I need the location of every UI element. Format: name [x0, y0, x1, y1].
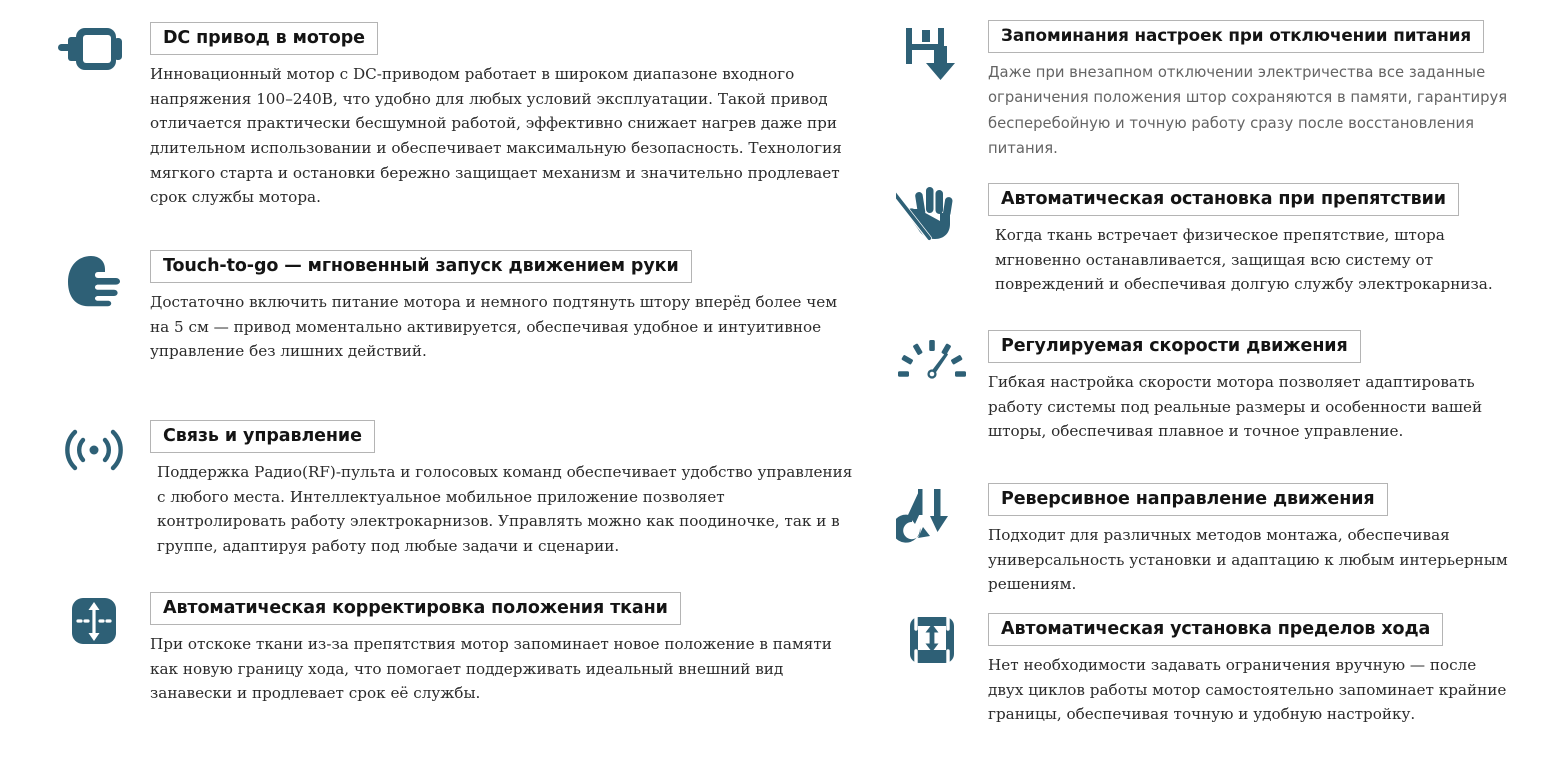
feature-title-box: Автоматическая остановка при препятствии	[988, 183, 1459, 216]
feature-reverse-direction: Реверсивное направление движения Подходи…	[893, 483, 1513, 597]
feature-description: Достаточно включить питание мотора и нем…	[150, 290, 855, 364]
feature-title-box: Автоматическая корректировка положения т…	[150, 592, 681, 625]
feature-body: DC привод в моторе Инновационный мотор с…	[150, 22, 855, 210]
feature-auto-travel-limits: Автоматическая установка пределов хода Н…	[893, 613, 1513, 727]
feature-title-box: Связь и управление	[150, 420, 375, 453]
feature-description: Когда ткань встречает физическое препятс…	[988, 223, 1513, 297]
feature-title: DC привод в моторе	[163, 28, 365, 48]
feature-body: Реверсивное направление движения Подходи…	[988, 483, 1513, 597]
feature-description: Гибкая настройка скорости мотора позволя…	[988, 370, 1513, 444]
feature-body: Автоматическая установка пределов хода Н…	[988, 613, 1513, 727]
feature-description: Инновационный мотор с DC-приводом работа…	[150, 62, 855, 210]
feature-title: Автоматическая установка пределов хода	[1001, 619, 1430, 639]
feature-title: Связь и управление	[163, 426, 362, 446]
feature-body: Запоминания настроек при отключении пита…	[988, 20, 1513, 162]
feature-connectivity: Связь и управление Поддержка Радио(RF)-п…	[55, 420, 855, 559]
feature-memory-on-power-loss: Запоминания настроек при отключении пита…	[893, 20, 1513, 162]
feature-title-box: Запоминания настроек при отключении пита…	[988, 20, 1484, 53]
feature-list-page: DC привод в моторе Инновационный мотор с…	[0, 0, 1545, 763]
feature-body: Связь и управление Поддержка Радио(RF)-п…	[150, 420, 855, 559]
feature-title: Автоматическая остановка при препятствии	[1001, 189, 1446, 209]
speed-gauge-icon	[893, 330, 971, 400]
feature-description: При отскоке ткани из-за препятствия мото…	[150, 632, 855, 706]
feature-title: Touch-to-go — мгновенный запуск движение…	[163, 256, 679, 276]
fabric-position-adjust-icon	[55, 592, 133, 662]
feature-body: Touch-to-go — мгновенный запуск движение…	[150, 250, 855, 364]
feature-title-box: Touch-to-go — мгновенный запуск движение…	[150, 250, 692, 283]
travel-limits-icon	[893, 613, 971, 683]
obstacle-stop-hand-icon	[893, 183, 971, 253]
feature-description: Нет необходимости задавать ограничения в…	[988, 653, 1513, 727]
feature-body: Автоматическая корректировка положения т…	[150, 592, 855, 706]
feature-adjustable-speed: Регулируемая скорости движения Гибкая на…	[893, 330, 1513, 444]
feature-dc-motor: DC привод в моторе Инновационный мотор с…	[55, 22, 855, 210]
feature-description: Даже при внезапном отключении электричес…	[988, 60, 1513, 162]
feature-body: Автоматическая остановка при препятствии…	[988, 183, 1513, 297]
reverse-direction-icon	[893, 483, 971, 553]
dc-motor-icon	[55, 22, 133, 92]
feature-description: Поддержка Радио(RF)-пульта и голосовых к…	[150, 460, 855, 559]
feature-title: Реверсивное направление движения	[1001, 489, 1375, 509]
save-settings-icon	[893, 20, 971, 90]
feature-fabric-position: Автоматическая корректировка положения т…	[55, 592, 855, 706]
feature-touch-to-go: Touch-to-go — мгновенный запуск движение…	[55, 250, 855, 364]
rf-signal-icon	[55, 420, 133, 490]
feature-title-box: DC привод в моторе	[150, 22, 378, 55]
feature-title: Автоматическая корректировка положения т…	[163, 598, 668, 618]
feature-obstacle-stop: Автоматическая остановка при препятствии…	[893, 183, 1513, 297]
feature-title: Запоминания настроек при отключении пита…	[1001, 25, 1471, 45]
hand-pointing-icon	[55, 250, 133, 320]
feature-title: Регулируемая скорости движения	[1001, 336, 1348, 356]
feature-title-box: Реверсивное направление движения	[988, 483, 1388, 516]
feature-description: Подходит для различных методов монтажа, …	[988, 523, 1513, 597]
feature-title-box: Автоматическая установка пределов хода	[988, 613, 1443, 646]
feature-title-box: Регулируемая скорости движения	[988, 330, 1361, 363]
feature-body: Регулируемая скорости движения Гибкая на…	[988, 330, 1513, 444]
